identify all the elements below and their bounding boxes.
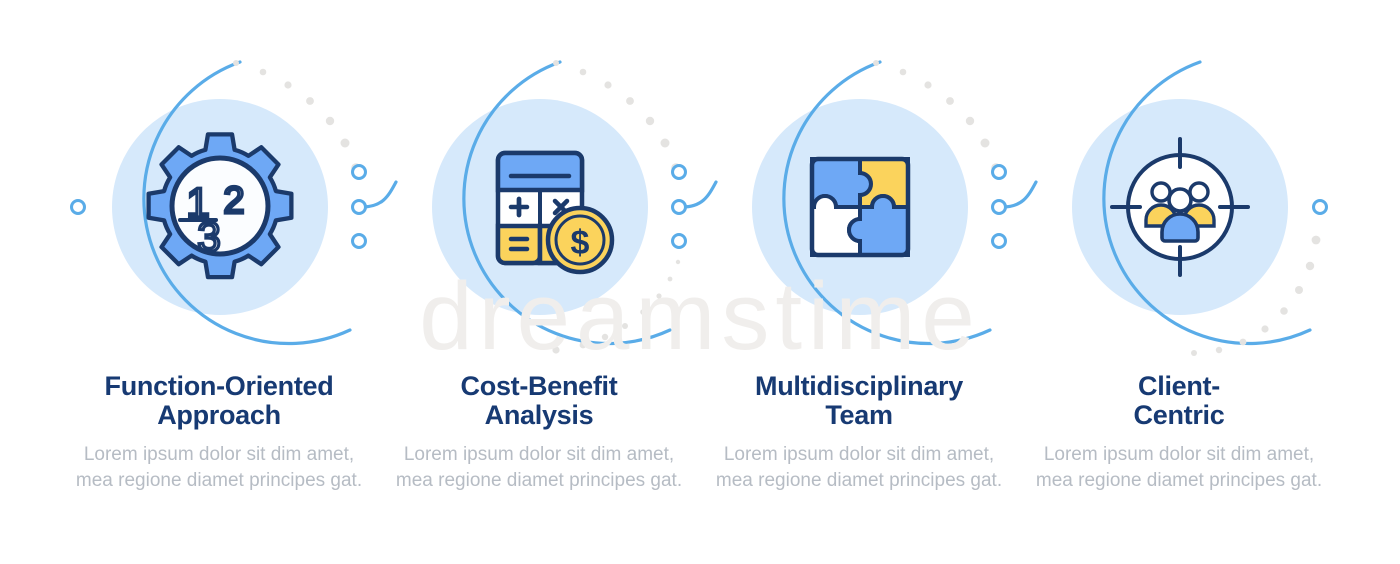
step-title-2: Cost-Benefit Analysis	[394, 372, 684, 430]
step-description-3: Lorem ipsum dolor sit dim amet, mea regi…	[714, 442, 1004, 493]
step-title-2-line-1: Cost-Benefit	[461, 371, 618, 401]
svg-text:$: $	[571, 224, 590, 262]
svg-text:2: 2	[223, 180, 244, 222]
node-1-c	[353, 235, 366, 248]
step-title-1-line-1: Function-Oriented	[105, 371, 334, 401]
step-title-1-line-2: Approach	[157, 400, 281, 430]
step-text-2: Cost-Benefit Analysis Lorem ipsum dolor …	[394, 372, 684, 493]
step-description-2: Lorem ipsum dolor sit dim amet, mea regi…	[394, 442, 684, 493]
step-title-4-line-2: Centric	[1134, 400, 1225, 430]
node-2-a	[673, 166, 686, 179]
node-1-a	[353, 166, 366, 179]
step-title-3-line-1: Multidisciplinary	[755, 371, 963, 401]
node-2-b	[673, 201, 686, 214]
node-3-c	[993, 235, 1006, 248]
node-3-b	[993, 201, 1006, 214]
gear-numbers-icon: 1 2 3	[149, 134, 292, 277]
node-1-b	[353, 201, 366, 214]
step-description-4: Lorem ipsum dolor sit dim amet, mea regi…	[1034, 442, 1324, 493]
node-left-start	[72, 201, 85, 214]
step-title-3: Multidisciplinary Team	[714, 372, 1004, 430]
step-title-2-line-2: Analysis	[485, 400, 594, 430]
connector-3-4	[1002, 182, 1036, 207]
step-title-1: Function-Oriented Approach	[74, 372, 364, 430]
node-right-end	[1314, 201, 1327, 214]
step-description-1: Lorem ipsum dolor sit dim amet, mea regi…	[74, 442, 364, 493]
step-title-3-line-2: Team	[825, 400, 892, 430]
puzzle-pieces-icon	[812, 159, 908, 255]
step-text-3: Multidisciplinary Team Lorem ipsum dolor…	[714, 372, 1004, 493]
infographic-canvas: 1 2 3 $	[0, 0, 1400, 564]
connector-2-3	[682, 182, 716, 207]
node-2-c	[673, 235, 686, 248]
step-title-4: Client- Centric	[1034, 372, 1324, 430]
step-text-4: Client- Centric Lorem ipsum dolor sit di…	[1034, 372, 1324, 493]
node-3-a	[993, 166, 1006, 179]
step-text-1: Function-Oriented Approach Lorem ipsum d…	[74, 372, 364, 493]
step-title-4-line-1: Client-	[1138, 371, 1220, 401]
connector-1-2	[362, 182, 396, 207]
